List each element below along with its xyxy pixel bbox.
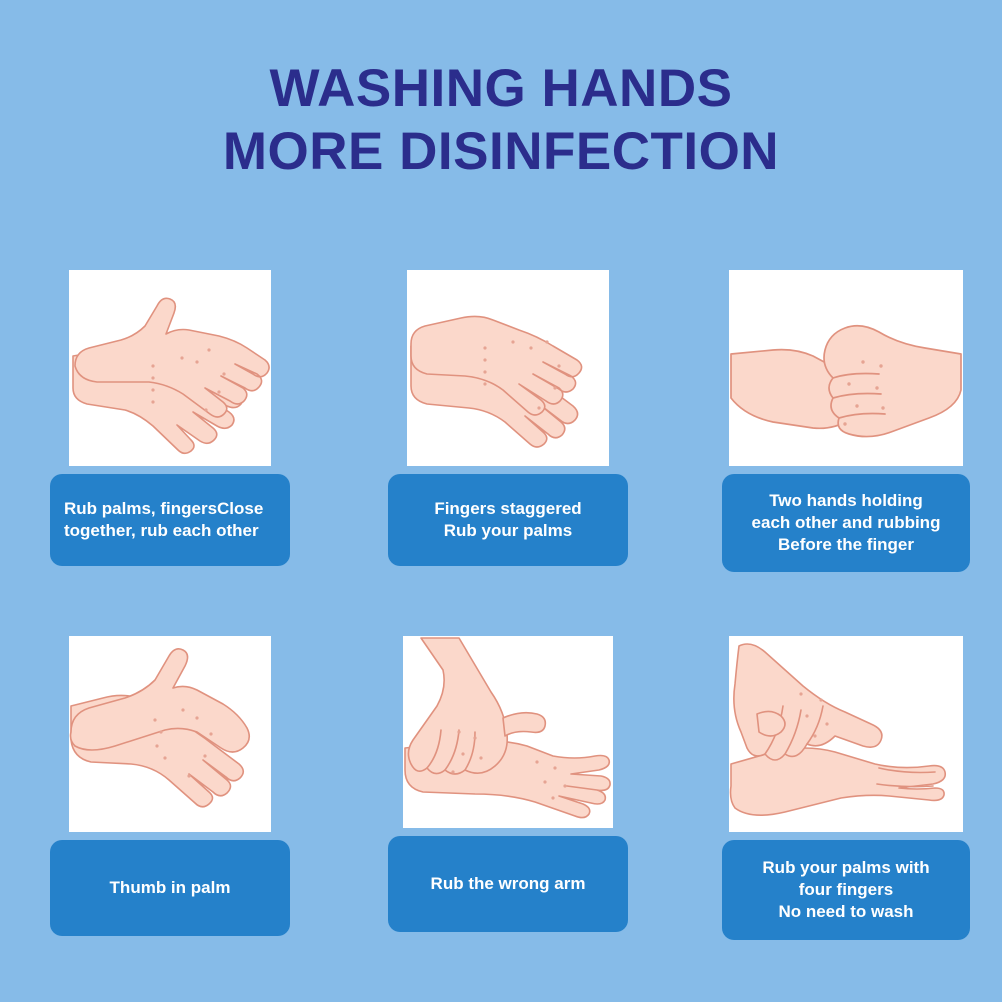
handwashing-poster: WASHING HANDS MORE DISINFECTION — [0, 0, 1002, 1002]
step-6-photo-panel — [729, 636, 963, 832]
hands-clasped-fingers-icon — [729, 270, 963, 466]
title-line-2: MORE DISINFECTION — [0, 125, 1002, 178]
title-line-1: WASHING HANDS — [0, 62, 1002, 115]
fingertips-in-palm-icon — [729, 636, 963, 832]
thumb-in-palm-icon — [69, 636, 271, 832]
page-title: WASHING HANDS MORE DISINFECTION — [0, 62, 1002, 178]
step-card-1: Rub palms, fingersClose together, rub ea… — [22, 258, 318, 566]
hand-rubbing-wrist-icon — [403, 636, 613, 828]
step-3-caption-text: Two hands holding each other and rubbing… — [752, 490, 941, 556]
two-hands-palms-rubbing-icon — [69, 270, 271, 466]
step-card-3: Two hands holding each other and rubbing… — [698, 258, 994, 572]
step-1-caption-text: Rub palms, fingersClose together, rub ea… — [64, 498, 263, 542]
step-6-caption: Rub your palms with four fingers No need… — [722, 840, 970, 940]
step-4-caption-text: Thumb in palm — [110, 877, 231, 899]
step-4-caption: Thumb in palm — [50, 840, 290, 936]
step-2-photo-panel — [407, 270, 609, 466]
step-card-6: Rub your palms with four fingers No need… — [698, 624, 994, 940]
step-1-photo-panel — [69, 270, 271, 466]
step-card-4: Thumb in palm — [22, 624, 318, 936]
step-5-caption: Rub the wrong arm — [388, 836, 628, 932]
step-card-5: Rub the wrong arm — [360, 624, 656, 932]
step-1-caption: Rub palms, fingersClose together, rub ea… — [50, 474, 290, 566]
step-6-caption-text: Rub your palms with four fingers No need… — [762, 857, 929, 923]
step-2-caption-text: Fingers staggered Rub your palms — [434, 498, 581, 542]
step-2-caption: Fingers staggered Rub your palms — [388, 474, 628, 566]
step-3-caption: Two hands holding each other and rubbing… — [722, 474, 970, 572]
step-5-caption-text: Rub the wrong arm — [431, 873, 586, 895]
step-3-photo-panel — [729, 270, 963, 466]
step-5-photo-panel — [403, 636, 613, 828]
step-card-2: Fingers staggered Rub your palms — [360, 258, 656, 566]
step-4-photo-panel — [69, 636, 271, 832]
hands-interlaced-fingers-icon — [407, 270, 609, 466]
steps-grid: Rub palms, fingersClose together, rub ea… — [0, 258, 1002, 958]
